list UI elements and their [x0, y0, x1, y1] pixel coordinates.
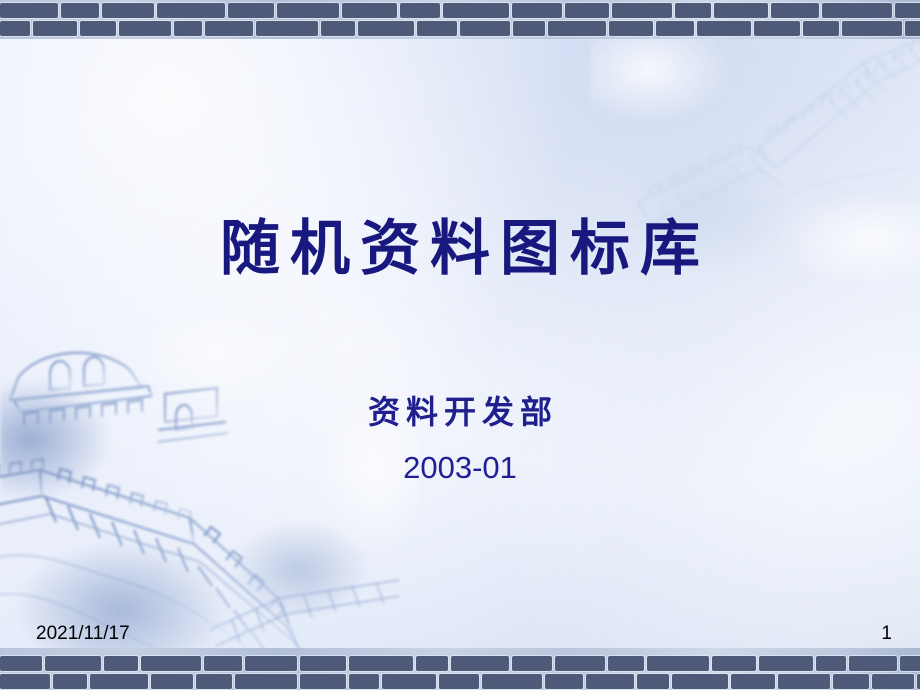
brick [119, 21, 171, 36]
slide-subtitle: 资料开发部 [0, 392, 920, 434]
brick [803, 21, 839, 36]
bottom-brick-row-1 [0, 656, 920, 671]
brick [416, 656, 448, 671]
brick [321, 21, 355, 36]
brick [822, 3, 892, 18]
brick [612, 3, 672, 18]
brick [400, 3, 440, 18]
brick [460, 21, 510, 36]
brick [80, 21, 116, 36]
brick [141, 656, 201, 671]
brick [104, 656, 138, 671]
brick [90, 674, 148, 689]
brick [151, 674, 193, 689]
brick [277, 3, 339, 18]
brick [548, 21, 606, 36]
brick [358, 21, 414, 36]
top-brick-background [0, 0, 920, 39]
brick [759, 656, 813, 671]
slide-title: 随机资料图标库 [0, 212, 920, 287]
brick [586, 674, 634, 689]
brick [33, 21, 77, 36]
brick [482, 674, 542, 689]
background-haze [0, 0, 920, 690]
brick [0, 674, 50, 689]
brick [157, 3, 225, 18]
brick [300, 674, 346, 689]
brick [0, 3, 58, 18]
brick [656, 21, 694, 36]
brick [816, 656, 846, 671]
brick [45, 656, 101, 671]
brick [443, 3, 509, 18]
brick [905, 21, 920, 36]
brick [512, 656, 552, 671]
brick [609, 21, 653, 36]
brick [0, 21, 30, 36]
brick [349, 656, 413, 671]
top-brick-border [0, 0, 920, 39]
brick [205, 21, 253, 36]
brick [637, 674, 669, 689]
bottom-brick-background [0, 648, 920, 690]
brick [900, 656, 920, 671]
brick [245, 656, 297, 671]
brick [565, 3, 609, 18]
brick [174, 21, 202, 36]
brick [731, 674, 775, 689]
brick [439, 674, 479, 689]
brick [647, 656, 709, 671]
top-brick-row-2 [0, 21, 920, 36]
brick [204, 656, 242, 671]
brick [342, 3, 397, 18]
bottom-brick-border [0, 648, 920, 690]
brick [235, 674, 297, 689]
presentation-slide: 随机资料图标库 资料开发部 2003-01 2021/11/17 1 [0, 0, 920, 690]
brick [300, 656, 346, 671]
brick [714, 3, 768, 18]
brick [872, 674, 914, 689]
brick [102, 3, 154, 18]
brick [513, 21, 545, 36]
brick [451, 656, 509, 671]
brick [545, 674, 583, 689]
top-brick-row-1 [0, 3, 920, 18]
brick [512, 3, 562, 18]
brick [771, 3, 819, 18]
brick [778, 674, 830, 689]
brick [349, 674, 379, 689]
brick [754, 21, 800, 36]
brick [608, 656, 644, 671]
brick [675, 3, 711, 18]
brick [53, 674, 87, 689]
brick [895, 3, 920, 18]
brick [228, 3, 274, 18]
brick [196, 674, 232, 689]
brick [697, 21, 751, 36]
brick [382, 674, 436, 689]
brick [555, 656, 605, 671]
brick [842, 21, 902, 36]
slide-subtitle-date: 2003-01 [0, 448, 920, 488]
bottom-brick-row-2 [0, 674, 920, 689]
footer-page-number: 1 [881, 623, 892, 645]
brick [712, 656, 756, 671]
brick [0, 656, 42, 671]
footer-date: 2021/11/17 [36, 623, 130, 645]
brick [256, 21, 318, 36]
brick [417, 21, 457, 36]
brick [833, 674, 869, 689]
brick [849, 656, 897, 671]
brick [61, 3, 99, 18]
brick [672, 674, 728, 689]
